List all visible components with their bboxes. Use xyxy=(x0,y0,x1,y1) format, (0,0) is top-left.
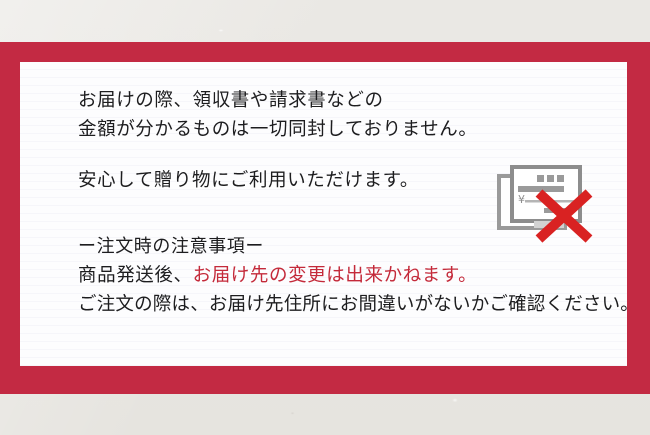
yen-symbol: ¥ xyxy=(518,193,525,206)
paragraph1-line2: 金額が分かるものは一切同封しておりません。 xyxy=(78,115,618,144)
header-square-1 xyxy=(537,175,544,182)
header-square-3 xyxy=(557,175,564,182)
caution-line-2: 商品発送後、お届け先の変更は出来かねます。 xyxy=(78,261,618,290)
caution-line-3: ご注文の際は、お届け先住所にお間違いがないかご確認ください。 xyxy=(78,290,618,320)
notice-card: お届けの際、領収書や請求書などの 金額が分かるものは一切同封しておりません。 安… xyxy=(20,62,627,366)
header-square-2 xyxy=(547,175,554,182)
caution-line2-red-part: お届け先の変更は出来かねます。 xyxy=(193,265,478,286)
paragraph1-line1: お届けの際、領収書や請求書などの xyxy=(78,86,618,115)
caution-line2-black-part: 商品発送後、 xyxy=(78,265,193,286)
page-root: お届けの際、領収書や請求書などの 金額が分かるものは一切同封しておりません。 安… xyxy=(0,0,650,435)
receipt-no-invoice-icon: ¥ xyxy=(494,162,604,254)
